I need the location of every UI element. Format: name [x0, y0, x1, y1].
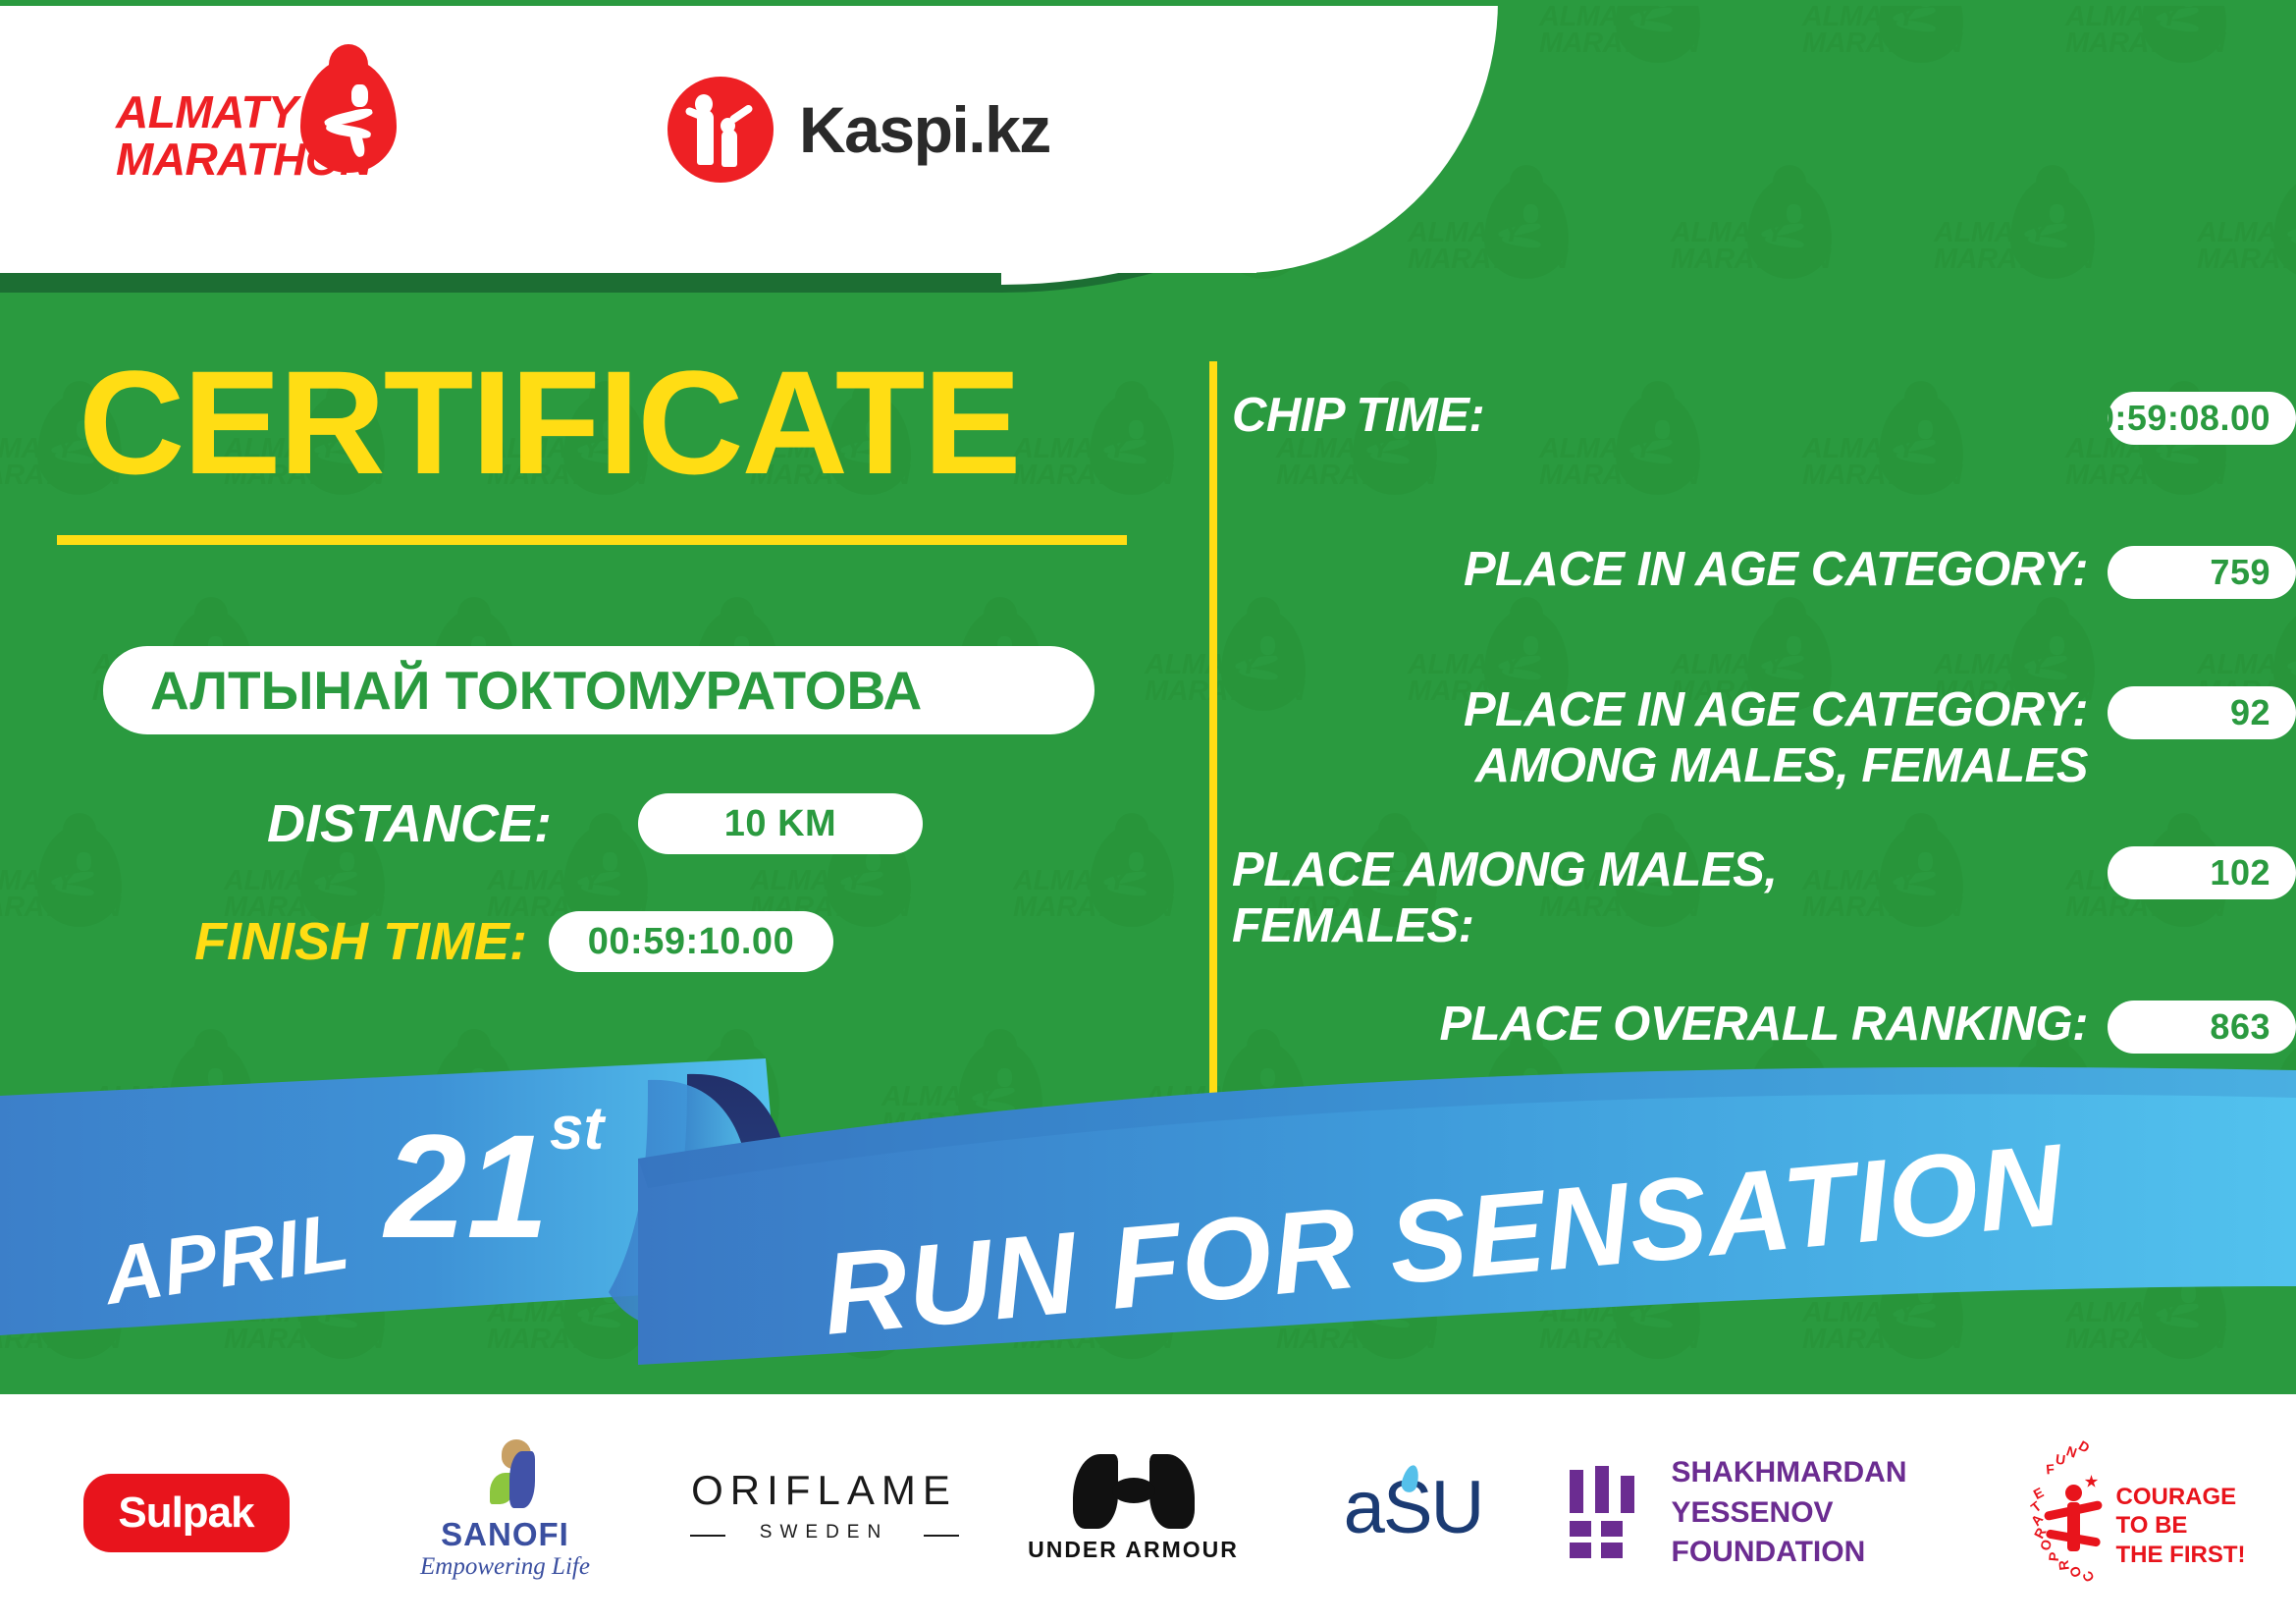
place-overall-value: 863	[2210, 1006, 2270, 1048]
watermark-tile: ALMATYMARATHON	[1934, 177, 2101, 324]
almaty-marathon-logo: ALMATY MARATHON	[116, 61, 440, 198]
oriflame-logo: ORIFLAME SWEDEN	[682, 1459, 967, 1567]
label-line-1: PLACE AMONG MALES,	[1232, 843, 1777, 896]
watermark-tile: ALMATYMARATHON	[1671, 177, 1838, 324]
chip-time-label: CHIP TIME:	[1232, 388, 2108, 444]
watermark-tile: ALMATYMARATHON	[2197, 1041, 2296, 1188]
place-age-category-gender-label: PLACE IN AGE CATEGORY: AMONG MALES, FEMA…	[1232, 682, 2108, 794]
sponsor-yessenov: SHAKHMARDAN YESSENOV FOUNDATION	[1546, 1454, 1978, 1572]
sponsor-almau: aSU	[1281, 1459, 1546, 1567]
watermark-tile: ALMATYMARATHON	[1276, 1257, 1443, 1394]
chip-time-row: CHIP TIME: 00:59:08.00	[1232, 388, 2296, 445]
distance-value: 10 KM	[724, 803, 836, 845]
sponsor-courage: CORPORATE FUND COURAGE TO BE THE FIRST!	[1978, 1449, 2272, 1577]
label-line-2: FEMALES:	[1232, 899, 1473, 952]
yessenov-line1: SHAKHMARDAN YESSENOV	[1672, 1453, 1958, 1533]
place-among-gender-value-pill: 102	[2108, 846, 2296, 899]
place-age-category-row: PLACE IN AGE CATEGORY: 759	[1232, 542, 2296, 599]
finish-time-value-pill: 00:59:10.00	[549, 911, 833, 972]
watermark-tile: ALMATYMARATHON	[1013, 1257, 1180, 1394]
sponsor-sanofi: SANOFI Empowering Life	[348, 1439, 663, 1587]
place-among-gender-label: PLACE AMONG MALES, FEMALES:	[1232, 842, 2108, 954]
watermark-tile: ALMATYMARATHON	[1802, 1257, 1969, 1394]
sponsor-sulpak: Sulpak	[25, 1474, 348, 1552]
title-underline	[57, 535, 1127, 545]
watermark-tile: ALMATYMARATHON	[1671, 1041, 1838, 1188]
under-armour-logo: UNDER ARMOUR	[1021, 1454, 1247, 1572]
yessenov-foundation-logo: SHAKHMARDAN YESSENOV FOUNDATION	[1566, 1454, 1958, 1572]
finish-time-value: 00:59:10.00	[588, 921, 794, 963]
sponsor-under-armour: UNDER ARMOUR	[987, 1454, 1281, 1572]
participant-name-field: АЛТЫНАЙ ТОКТОМУРАТОВА	[103, 646, 1095, 734]
sanofi-tagline: Empowering Life	[407, 1553, 604, 1581]
place-overall-value-pill: 863	[2108, 1001, 2296, 1054]
finish-time-label: FINISH TIME:	[194, 911, 527, 972]
place-among-gender-value: 102	[2210, 852, 2270, 893]
certificate-left-column: CERTIFICATE АЛТЫНАЙ ТОКТОМУРАТОВА DISTAN…	[0, 295, 1207, 1276]
runner-figure-icon	[322, 84, 383, 153]
page-title: CERTIFICATE	[79, 349, 1020, 496]
watermark-tile: ALMATYMARATHON	[1539, 0, 1706, 108]
courage-line3: THE FIRST!	[2116, 1541, 2246, 1569]
place-age-category-gender-row: PLACE IN AGE CATEGORY: AMONG MALES, FEMA…	[1232, 682, 2296, 794]
watermark-tile: ALMATYMARATHON	[2065, 0, 2232, 108]
distance-value-pill: 10 KM	[638, 793, 923, 854]
place-age-category-gender-value-pill: 92	[2108, 686, 2296, 739]
sanofi-mark-icon	[484, 1439, 543, 1510]
under-armour-icon	[1073, 1454, 1195, 1529]
under-armour-label: UNDER ARMOUR	[1021, 1537, 1247, 1563]
place-overall-label: PLACE OVERALL RANKING:	[1232, 997, 2108, 1053]
label-line-1: PLACE IN AGE CATEGORY:	[1464, 683, 2088, 736]
place-age-category-value-pill: 759	[2108, 546, 2296, 599]
watermark-tile: ALMATYMARATHON	[2065, 1257, 2232, 1394]
place-age-category-gender-value: 92	[2230, 692, 2270, 733]
courage-fund-logo: CORPORATE FUND COURAGE TO BE THE FIRST!	[1993, 1449, 2258, 1577]
participant-name: АЛТЫНАЙ ТОКТОМУРАТОВА	[103, 659, 922, 722]
yessenov-line2: FOUNDATION	[1672, 1533, 1958, 1573]
watermark-tile: ALMATYMARATHON	[1934, 1041, 2101, 1188]
finish-time-row: FINISH TIME: 00:59:10.00	[194, 911, 833, 972]
place-overall-row: PLACE OVERALL RANKING: 863	[1232, 997, 2296, 1054]
courage-label: COURAGE TO BE THE FIRST!	[2116, 1483, 2246, 1569]
header-top-line	[0, 0, 2296, 6]
watermark-tile: ALMATYMARATHON	[2197, 177, 2296, 324]
chip-time-value-pill: 00:59:08.00	[2108, 392, 2296, 445]
watermark-tile: ALMATYMARATHON	[224, 1257, 391, 1394]
distance-label: DISTANCE:	[267, 793, 552, 854]
oriflame-label: ORIFLAME	[682, 1467, 967, 1514]
place-among-gender-row: PLACE AMONG MALES, FEMALES: 102	[1232, 842, 2296, 954]
sanofi-label: SANOFI	[407, 1516, 604, 1553]
distance-row: DISTANCE: 10 KM	[267, 793, 923, 854]
sulpak-logo: Sulpak	[83, 1474, 290, 1552]
watermark-tile: ALMATYMARATHON	[1539, 1257, 1706, 1394]
watermark-tile: ALMATYMARATHON	[1408, 177, 1575, 324]
sponsor-bar: Sulpak SANOFI Empowering Life ORIFLAME S…	[0, 1402, 2296, 1624]
kaspi-logo: Kaspi.kz	[667, 77, 1050, 183]
courage-figure-icon	[2044, 1475, 2103, 1557]
watermark-tile: ALMATYMARATHON	[1802, 0, 1969, 108]
place-age-category-value: 759	[2210, 552, 2270, 593]
oriflame-sub: SWEDEN	[682, 1522, 967, 1543]
yessenov-mark-icon	[1566, 1466, 1650, 1560]
sanofi-logo: SANOFI Empowering Life	[407, 1439, 604, 1587]
yessenov-label: SHAKHMARDAN YESSENOV FOUNDATION	[1672, 1453, 1958, 1573]
watermark-tile: ALMATYMARATHON	[750, 1257, 917, 1394]
sponsor-oriflame: ORIFLAME SWEDEN	[663, 1459, 987, 1567]
kaspi-people-circle-icon	[667, 77, 774, 183]
courage-line2: TO BE	[2116, 1511, 2246, 1540]
kaspi-logo-label: Kaspi.kz	[799, 92, 1050, 167]
label-line-2: AMONG MALES, FEMALES	[1475, 739, 2088, 792]
place-age-category-label: PLACE IN AGE CATEGORY:	[1232, 542, 2108, 598]
almau-logo: aSU	[1320, 1459, 1507, 1567]
courage-line1: COURAGE	[2116, 1483, 2246, 1511]
watermark-tile: ALMATYMARATHON	[1408, 1041, 1575, 1188]
watermark-tile: ALMATYMARATHON	[0, 1257, 128, 1394]
certificate-page: ALMATYMARATHONALMATYMARATHONALMATYMARATH…	[0, 0, 2296, 1624]
column-divider	[1209, 361, 1217, 1100]
watermark-tile: ALMATYMARATHON	[487, 1257, 654, 1394]
chip-time-value: 00:59:08.00	[2074, 398, 2270, 439]
